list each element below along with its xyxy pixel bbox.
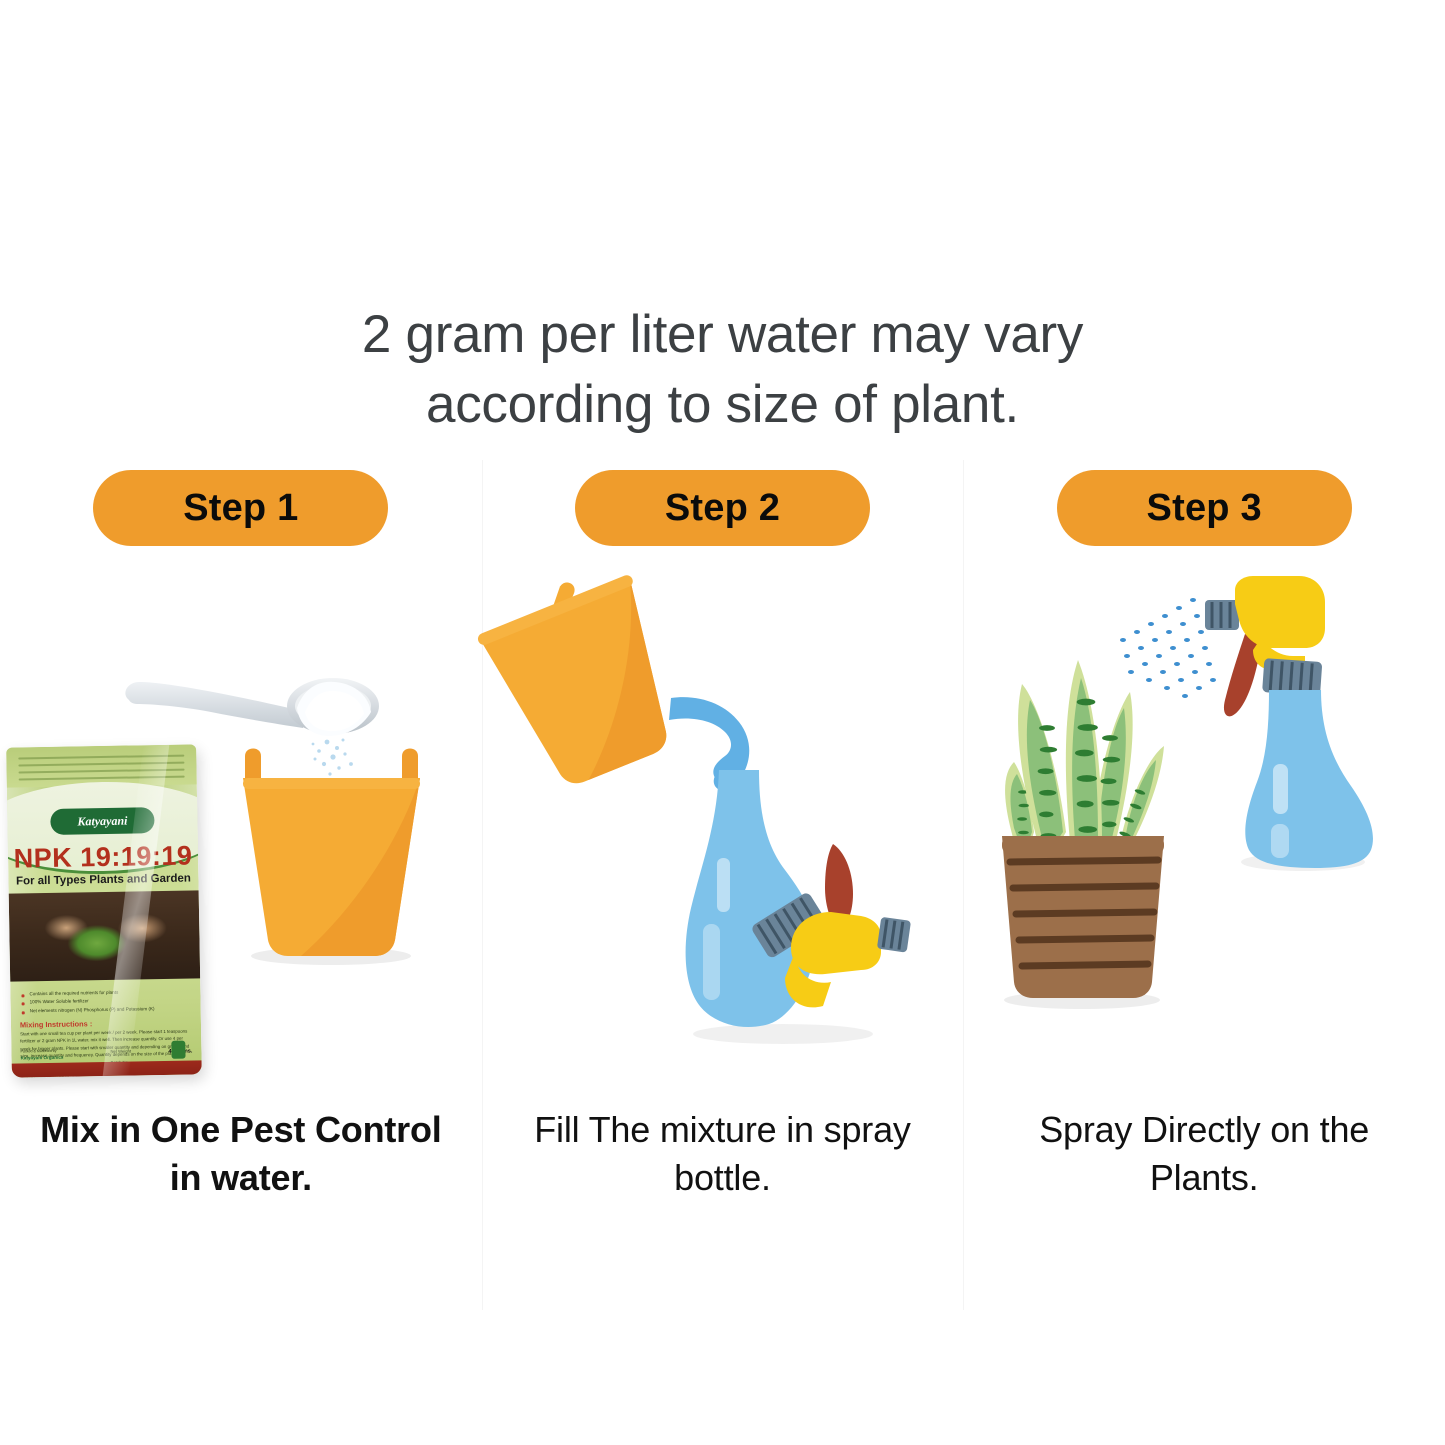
packet-bullet: Net elements nitrogen (N) Phosphorus (P)… bbox=[19, 1004, 191, 1015]
step-3-illustration bbox=[964, 566, 1444, 1106]
step-column-3: Step 3 bbox=[963, 470, 1445, 1330]
step-column-2: Step 2 bbox=[482, 470, 964, 1330]
subtitle: 2 gram per liter water may vary accordin… bbox=[173, 300, 1273, 440]
step-badge-1: Step 1 bbox=[93, 470, 388, 546]
spray-bottle-lying-icon bbox=[673, 766, 913, 1046]
packet-photo bbox=[9, 890, 201, 981]
step-badge-3: Step 3 bbox=[1057, 470, 1352, 546]
step-badge-2: Step 2 bbox=[575, 470, 870, 546]
step-caption-3: Spray Directly on the Plants. bbox=[989, 1106, 1419, 1202]
packet-product-name: NPK 19:19:19 bbox=[8, 840, 199, 874]
step-1-illustration: Katyayani NPK 19:19:19 For all Types Pla… bbox=[1, 566, 481, 1106]
header-banner: HOW TO USE bbox=[30, 22, 1415, 277]
npk-fertilizer-packet: Katyayani NPK 19:19:19 For all Types Pla… bbox=[6, 744, 202, 1077]
packet-bullet-list: Contains all the required nutrients for … bbox=[19, 987, 191, 1015]
packet-marketed-by-label: Packed & Marketed by bbox=[20, 1047, 116, 1055]
bucket-icon bbox=[229, 744, 434, 969]
infographic-page: HOW TO USE 2 gram per liter water may va… bbox=[0, 0, 1445, 1445]
step-caption-1: Mix in One Pest Control in water. bbox=[26, 1106, 456, 1202]
subtitle-line-2: according to size of plant. bbox=[173, 370, 1273, 440]
steps-row: Step 1 bbox=[0, 470, 1445, 1330]
subtitle-line-1: 2 gram per liter water may vary bbox=[173, 300, 1273, 370]
eco-leaf-icon bbox=[171, 1041, 185, 1059]
spray-bottle-icon bbox=[1169, 576, 1429, 876]
page-title: HOW TO USE bbox=[51, 7, 1394, 293]
step-column-1: Step 1 bbox=[0, 470, 482, 1330]
packet-company: Katyayani Organics bbox=[20, 1055, 63, 1061]
step-2-illustration bbox=[483, 566, 963, 1106]
packet-mixing-heading: Mixing Instructions : bbox=[20, 1019, 92, 1029]
packet-tagline: For all Types Plants and Garden bbox=[8, 872, 198, 887]
step-caption-2: Fill The mixture in spray bottle. bbox=[508, 1106, 938, 1202]
